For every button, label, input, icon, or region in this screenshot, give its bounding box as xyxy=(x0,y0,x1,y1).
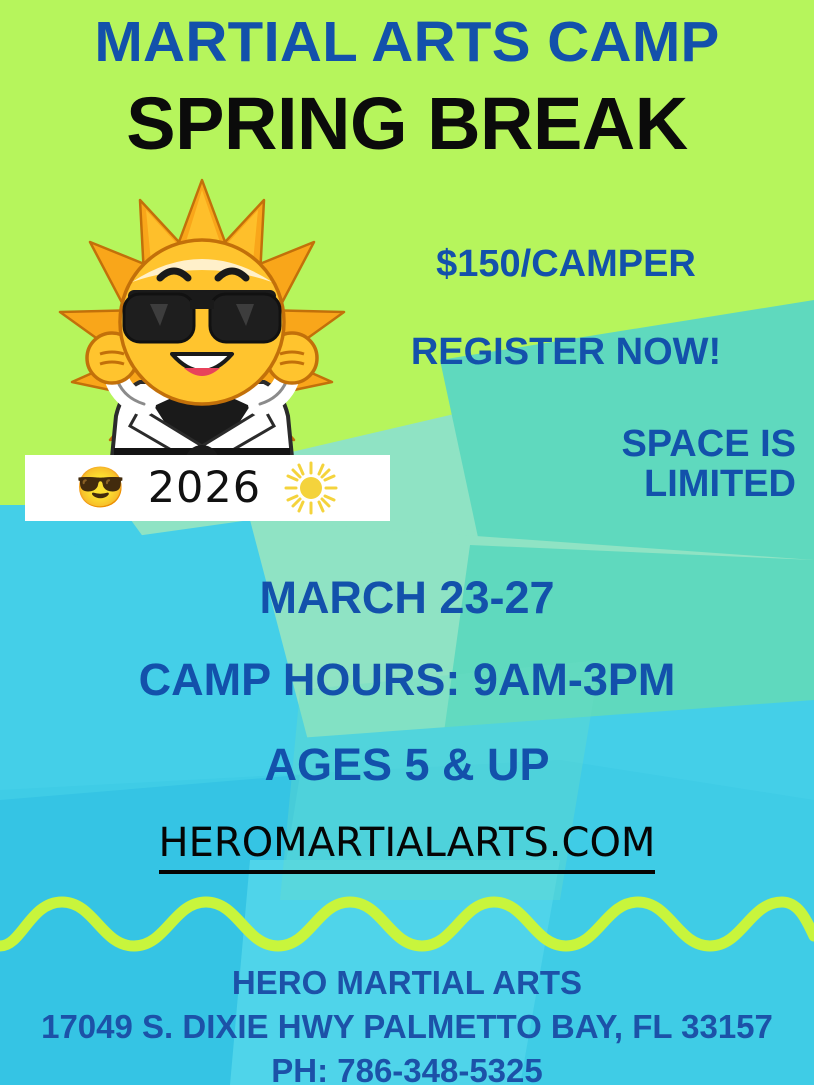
camp-dates: MARCH 23-27 xyxy=(0,575,814,620)
cool-face-icon: 😎 xyxy=(76,468,126,508)
flyer-poster: MARTIAL ARTS CAMP SPRING BREAK xyxy=(0,0,814,1085)
footer-business-name: HERO MARTIAL ARTS xyxy=(0,966,814,999)
space-limited-note: SPACE IS LIMITED xyxy=(336,425,796,504)
headline-secondary: SPRING BREAK xyxy=(0,87,814,161)
website-url-text: HEROMARTIALARTS.COM xyxy=(159,820,656,874)
footer-address: 17049 S. DIXIE HWY PALMETTO BAY, FL 3315… xyxy=(0,1010,814,1043)
camp-hours: CAMP HOURS: 9AM-3PM xyxy=(0,657,814,702)
price-label: $150/CAMPER xyxy=(336,245,796,285)
camp-ages: AGES 5 & UP xyxy=(0,742,814,787)
headline-block: MARTIAL ARTS CAMP SPRING BREAK xyxy=(0,0,814,161)
footer-phone: PH: 786-348-5325 xyxy=(0,1054,814,1085)
wave-divider-icon xyxy=(0,888,814,966)
space-limited-line1: SPACE IS xyxy=(336,425,796,465)
headline-primary: MARTIAL ARTS CAMP xyxy=(0,14,814,71)
karate-sun-mascot-icon xyxy=(32,172,372,482)
register-cta: REGISTER NOW! xyxy=(336,333,796,373)
space-limited-line2: LIMITED xyxy=(336,465,796,505)
mascot-face xyxy=(120,240,284,404)
badge-year-label: 2026 xyxy=(148,463,261,513)
sun-icon xyxy=(283,460,339,516)
website-link[interactable]: HEROMARTIALARTS.COM xyxy=(0,820,814,866)
